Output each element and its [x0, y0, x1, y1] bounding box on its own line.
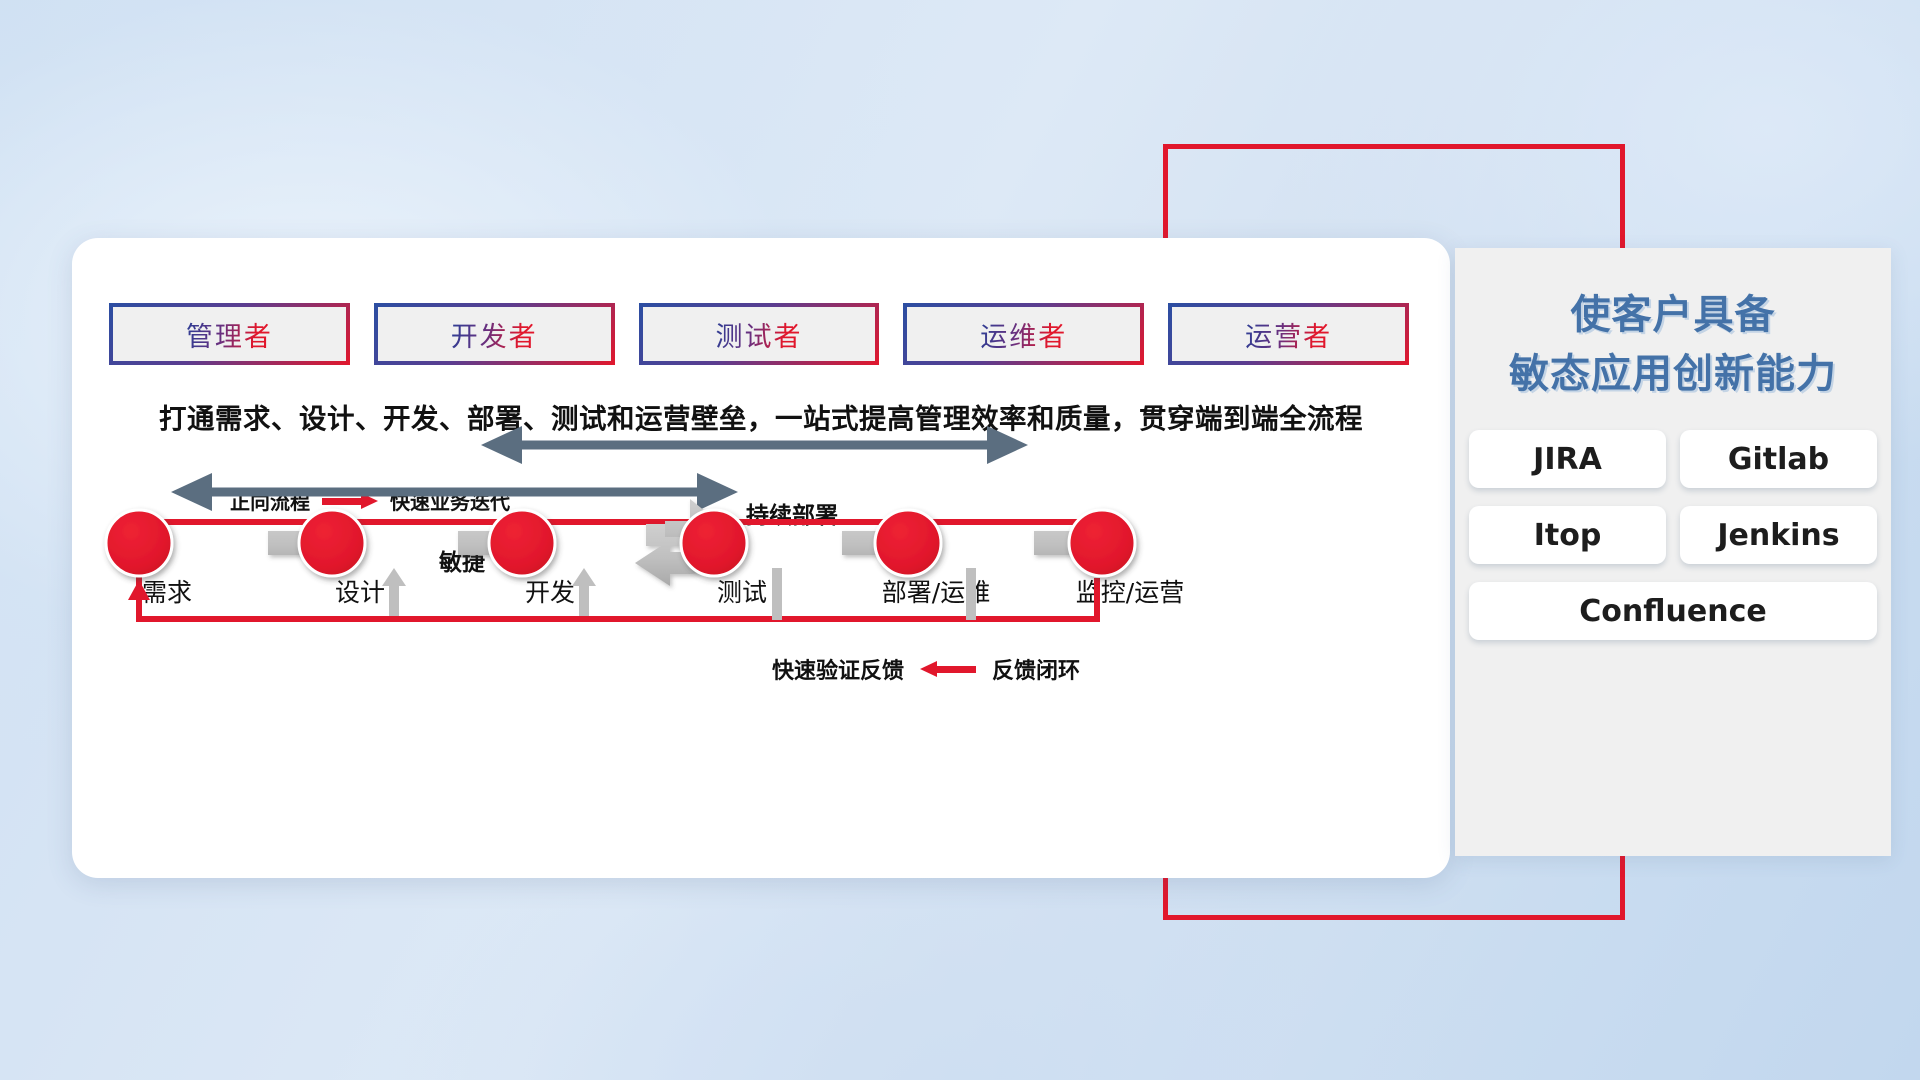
- span-arrow-continuous-deployment: [481, 426, 1028, 464]
- legend-feedback-right-label: 反馈闭环: [992, 653, 1080, 685]
- side-panel: 使客户具备 敏态应用创新能力 JIRA Gitlab Itop Jenkins …: [1455, 248, 1891, 856]
- tool-chip-jenkins[interactable]: Jenkins: [1680, 506, 1877, 564]
- span-arrow-agile: [171, 473, 738, 511]
- legend-feedback-left-label: 快速验证反馈: [772, 653, 904, 685]
- side-panel-title-line2: 敏态应用创新能力: [1455, 345, 1891, 404]
- flow-diagram-graphics: [72, 238, 1450, 878]
- tool-chip-itop[interactable]: Itop: [1469, 506, 1666, 564]
- tool-chip-jira[interactable]: JIRA: [1469, 430, 1666, 488]
- tools-grid: JIRA Gitlab Itop Jenkins Confluence: [1469, 430, 1877, 640]
- legend-feedback-loop: 快速验证反馈 反馈闭环: [772, 653, 1080, 685]
- arrow-left-red-icon: [920, 661, 976, 677]
- tool-chip-confluence[interactable]: Confluence: [1469, 582, 1877, 640]
- side-panel-title-line1: 使客户具备: [1571, 292, 1776, 338]
- node-stems: [382, 568, 976, 620]
- tool-chip-gitlab[interactable]: Gitlab: [1680, 430, 1877, 488]
- side-panel-title: 使客户具备 敏态应用创新能力: [1455, 248, 1891, 404]
- main-card: 管理者 开发者 测试者 运维者 运营者 打通需求、设计、开发、部署、测试和运营壁…: [72, 238, 1450, 878]
- slide-canvas: 管理者 开发者 测试者 运维者 运营者 打通需求、设计、开发、部署、测试和运营壁…: [0, 0, 1920, 1080]
